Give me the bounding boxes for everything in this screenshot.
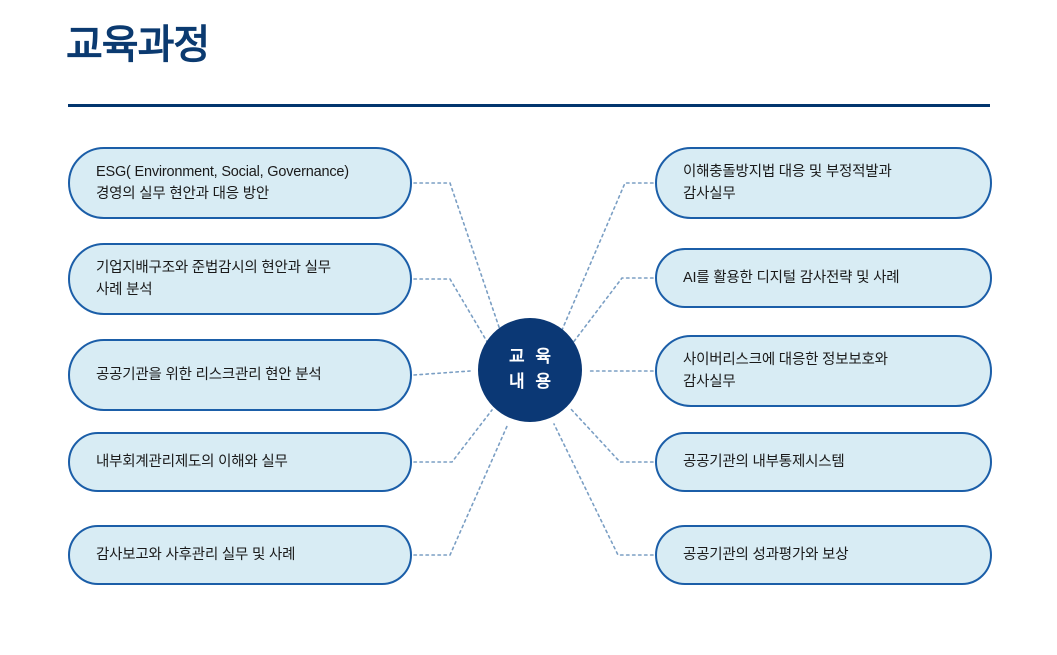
topic-node-label: 내부회계관리제도의 이해와 실무	[96, 451, 388, 473]
topic-node-label: 이해충돌방지법 대응 및 부정적발과 감사실무	[683, 161, 968, 206]
connector-left-1	[414, 183, 500, 330]
topic-node-left-1[interactable]: ESG( Environment, Social, Governance) 경영…	[68, 147, 412, 219]
center-hub: 교 육 내 용	[478, 318, 582, 422]
connector-right-5	[554, 424, 653, 555]
topic-node-left-2[interactable]: 기업지배구조와 준법감시의 현안과 실무 사례 분석	[68, 243, 412, 315]
topic-node-label: 사이버리스크에 대응한 정보보호와 감사실무	[683, 349, 968, 394]
topic-node-right-2[interactable]: AI를 활용한 디지털 감사전략 및 사례	[655, 248, 992, 308]
topic-node-right-3[interactable]: 사이버리스크에 대응한 정보보호와 감사실무	[655, 335, 992, 407]
connector-left-5	[414, 424, 508, 555]
topic-node-label: 공공기관의 성과평가와 보상	[683, 544, 968, 566]
diagram-canvas: 교육과정 ESG( Environment, Social, Governanc…	[0, 0, 1057, 655]
topic-node-right-4[interactable]: 공공기관의 내부통제시스템	[655, 432, 992, 492]
topic-node-right-5[interactable]: 공공기관의 성과평가와 보상	[655, 525, 992, 585]
topic-node-label: AI를 활용한 디지털 감사전략 및 사례	[683, 267, 968, 289]
topic-node-label: 기업지배구조와 준법감시의 현안과 실무 사례 분석	[96, 257, 388, 302]
topic-node-left-5[interactable]: 감사보고와 사후관리 실무 및 사례	[68, 525, 412, 585]
topic-node-label: 공공기관을 위한 리스크관리 현안 분석	[96, 364, 388, 386]
topic-node-right-1[interactable]: 이해충돌방지법 대응 및 부정적발과 감사실무	[655, 147, 992, 219]
connector-right-4	[570, 408, 653, 462]
topic-node-left-4[interactable]: 내부회계관리제도의 이해와 실무	[68, 432, 412, 492]
topic-node-label: 공공기관의 내부통제시스템	[683, 451, 968, 473]
connector-right-2	[572, 278, 653, 344]
center-hub-line-2: 내 용	[506, 370, 554, 395]
connector-left-4	[414, 410, 492, 462]
topic-node-left-3[interactable]: 공공기관을 위한 리스크관리 현안 분석	[68, 339, 412, 411]
connector-right-1	[562, 183, 653, 330]
connector-left-3	[414, 371, 470, 375]
connector-left-2	[414, 279, 489, 345]
topic-node-label: ESG( Environment, Social, Governance) 경영…	[96, 161, 388, 206]
topic-node-label: 감사보고와 사후관리 실무 및 사례	[96, 544, 388, 566]
center-hub-line-1: 교 육	[506, 345, 554, 370]
